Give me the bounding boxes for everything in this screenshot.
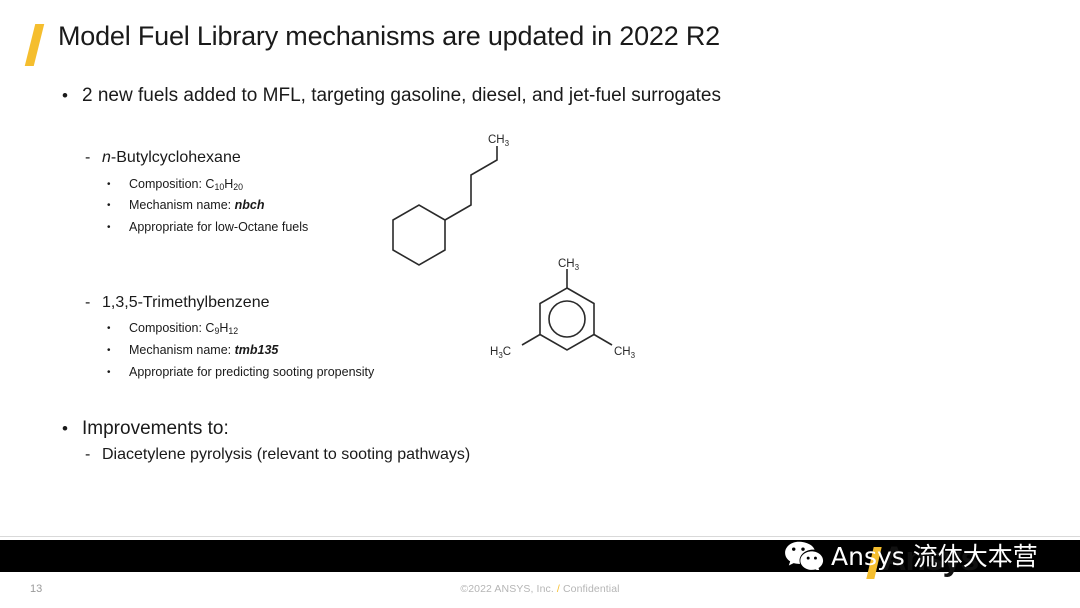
aromatic-circle [549,301,585,337]
fuel-1-composition-mid: H [224,177,233,191]
fuel-2-composition: •Composition: C9H12 [107,321,238,336]
ch3-label-top: CH3 [558,258,580,272]
wechat-watermark: Ansys 流体大本营 [784,537,1038,573]
ch3-label-top: CH3 [488,134,510,148]
sub-bullet-dot-icon: • [107,323,129,334]
fuel-2-composition-mid: H [219,321,228,335]
h3c-label-left: H3C [490,346,511,360]
fuel-1-mechanism-label: Mechanism name: [129,198,235,212]
fuel-1-mechanism-name: nbch [235,198,265,212]
fuel-1-name-rest: -Butylcyclohexane [111,149,241,166]
bullet-intro: •2 new fuels added to MFL, targeting gas… [62,85,721,107]
copyright-post: Confidential [560,583,620,595]
bullet-improvements: •Improvements to: [62,418,229,440]
fuel-2-appropriate: •Appropriate for predicting sooting prop… [107,365,374,379]
bullet-dot-icon: • [62,419,82,439]
methyl-bond-right [594,335,612,346]
fuel-1-composition: •Composition: C10H20 [107,177,243,192]
fuel-1-mechanism: •Mechanism name: nbch [107,198,264,212]
improvements-item-label: Diacetylene pyrolysis (relevant to sooti… [102,446,470,463]
wechat-watermark-text: Ansys 流体大本营 [831,537,1038,573]
fuel-1-composition-sub1: 10 [214,182,224,192]
fuel-2-composition-label: Composition: C [129,321,214,335]
sub-bullet-dot-icon: • [107,222,129,233]
fuel-2-mechanism-name: tmb135 [235,343,279,357]
fuel-2-composition-sub2: 12 [228,326,238,336]
fuel-1-composition-label: Composition: C [129,177,214,191]
copyright-pre: ©2022 ANSYS, Inc. [460,583,557,595]
improvements-header-label: Improvements to: [82,418,229,439]
wechat-icon [784,540,824,570]
bullet-dot-icon: • [62,86,82,106]
sub-bullet-dot-icon: • [107,367,129,378]
dash-marker-icon: - [85,446,102,464]
fuel-1-appropriate: •Appropriate for low-Octane fuels [107,220,308,234]
benzene-ring [540,288,594,350]
dash-marker-icon: - [85,294,102,312]
fuel-1-composition-sub2: 20 [233,182,243,192]
fuel-2-name-rest: 1,3,5-Trimethylbenzene [102,294,270,311]
cyclohexane-ring [393,205,445,265]
slide-title-row: Model Fuel Library mechanisms are update… [0,12,1000,62]
fuel-1-name-prefix: n [102,149,111,166]
fuel-2-name: -1,3,5-Trimethylbenzene [85,294,270,312]
fuel-2-appropriate-label: Appropriate for predicting sooting prope… [129,365,374,379]
sub-bullet-dot-icon: • [107,200,129,211]
fuel-1-appropriate-label: Appropriate for low-Octane fuels [129,220,308,234]
copyright-notice: ©2022 ANSYS, Inc. / Confidential [0,583,1080,595]
sub-bullet-dot-icon: • [107,179,129,190]
dash-marker-icon: - [85,149,102,167]
methyl-bond-left [522,335,540,346]
fuel-1-name: -n-Butylcyclohexane [85,149,241,167]
bullet-intro-label: 2 new fuels added to MFL, targeting gaso… [82,85,721,106]
fuel-2-mechanism-label: Mechanism name: [129,343,235,357]
title-accent-slash-icon [25,24,44,66]
ch3-label-right: CH3 [614,346,636,360]
butyl-chain [445,146,497,220]
sub-bullet-dot-icon: • [107,345,129,356]
structure-trimethylbenzene: CH3 CH3 H3C [488,258,658,383]
page-title: Model Fuel Library mechanisms are update… [58,21,720,52]
improvements-item: -Diacetylene pyrolysis (relevant to soot… [85,446,470,464]
fuel-2-mechanism: •Mechanism name: tmb135 [107,343,278,357]
slide-canvas: Model Fuel Library mechanisms are update… [0,0,1080,608]
